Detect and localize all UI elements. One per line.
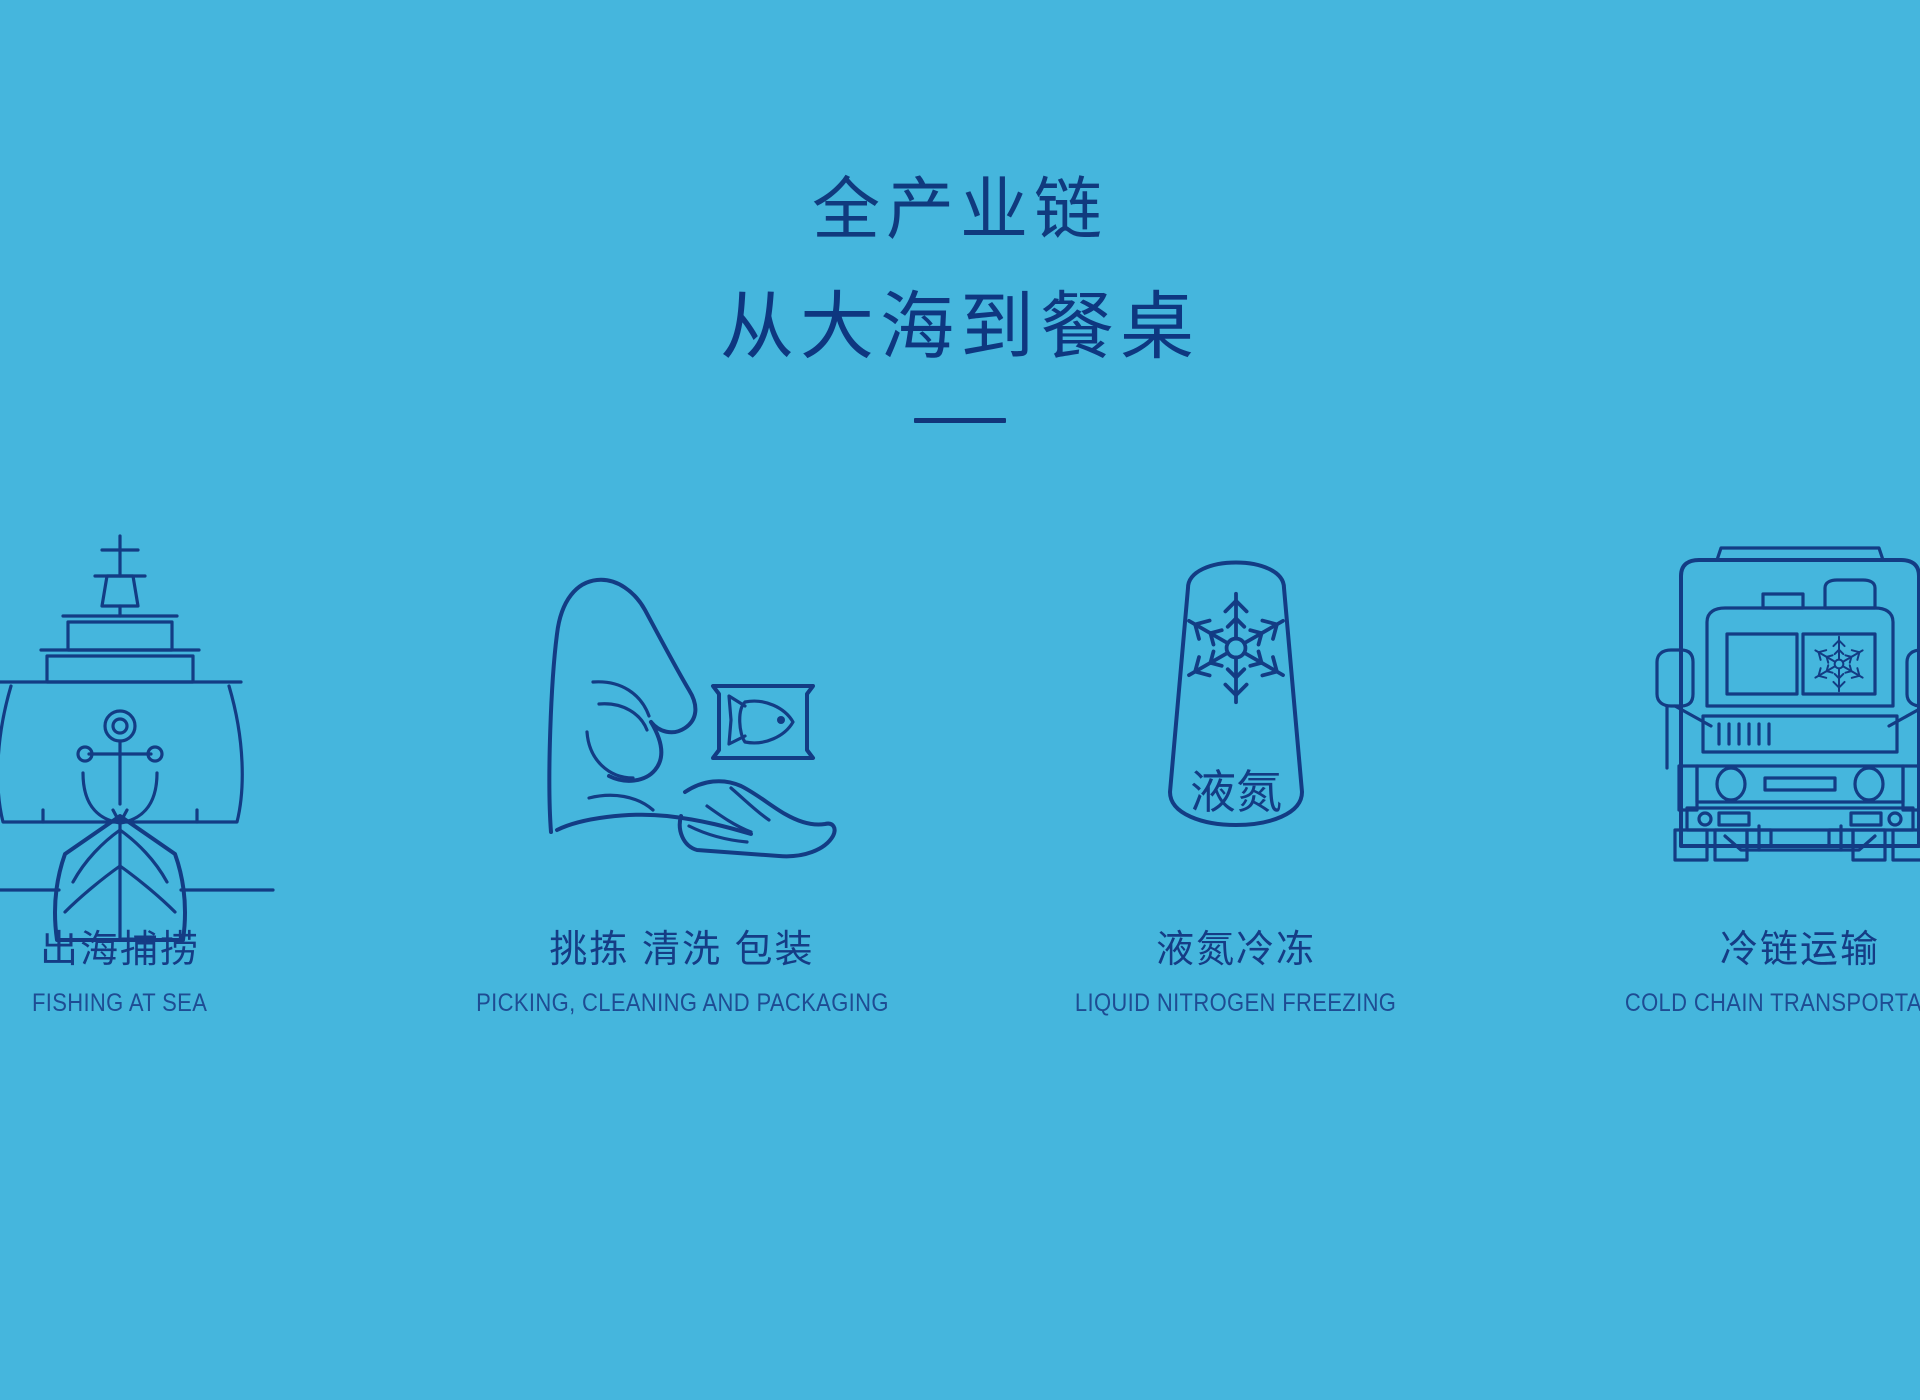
step-label-en: COLD CHAIN TRANSPORTATION <box>1625 990 1920 1018</box>
hands-with-packaged-fish-icon <box>517 530 847 860</box>
fishing-boat-icon <box>0 530 285 860</box>
step-label-cn: 冷链运输 <box>1601 930 1920 972</box>
tank-text: 液氮 <box>1190 766 1282 818</box>
page-root: 全产业链 从大海到餐桌 <box>0 0 1920 1400</box>
page-title-primary: 全产业链 <box>0 176 1920 244</box>
process-steps: 出海捕捞 FISHING AT SEA <box>0 530 1920 1017</box>
step-labels: 挑拣 清洗 包装 PICKING, CLEANING AND PACKAGING <box>448 930 917 1017</box>
title-divider <box>914 418 1006 423</box>
step-liquid-nitrogen-freezing[interactable]: 液氮 液氮冷冻 LIQUID NITROGEN FREEZING <box>996 530 1476 1017</box>
step-labels: 冷链运输 COLD CHAIN TRANSPORTATION <box>1601 930 1920 1017</box>
snowflake-icon <box>1184 594 1289 703</box>
step-labels: 出海捕捞 FISHING AT SEA <box>20 930 219 1017</box>
step-labels: 液氮冷冻 LIQUID NITROGEN FREEZING <box>1053 930 1418 1017</box>
step-art <box>517 530 847 860</box>
step-label-cn: 出海捕捞 <box>20 930 219 972</box>
step-label-en: FISHING AT SEA <box>32 990 207 1018</box>
snowflake-icon <box>1813 637 1866 692</box>
step-fishing-at-sea[interactable]: 出海捕捞 FISHING AT SEA <box>0 530 360 1017</box>
step-art <box>1635 530 1920 860</box>
step-label-en: PICKING, CLEANING AND PACKAGING <box>476 990 889 1018</box>
page-title-secondary: 从大海到餐桌 <box>0 290 1920 364</box>
page-header: 全产业链 从大海到餐桌 <box>0 0 1920 423</box>
liquid-nitrogen-tank-icon: 液氮 <box>1071 530 1401 860</box>
step-picking-cleaning-packaging[interactable]: 挑拣 清洗 包装 PICKING, CLEANING AND PACKAGING <box>442 530 922 1017</box>
step-label-cn: 液氮冷冻 <box>1053 930 1418 972</box>
step-art: 液氮 <box>1071 530 1401 860</box>
step-cold-chain-transportation[interactable]: 冷链运输 COLD CHAIN TRANSPORTATION <box>1560 530 1920 1017</box>
step-label-cn: 挑拣 清洗 包装 <box>448 930 917 972</box>
refrigerated-truck-icon <box>1635 530 1920 860</box>
step-label-en: LIQUID NITROGEN FREEZING <box>1075 990 1396 1018</box>
step-art <box>0 530 285 860</box>
